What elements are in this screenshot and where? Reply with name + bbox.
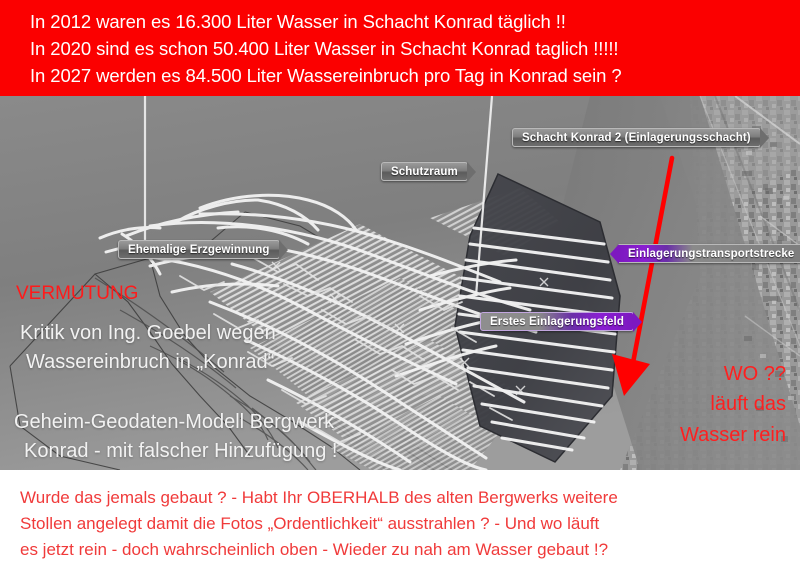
callout-schacht-konrad-2-label: Schacht Konrad 2 (Einlagerungsschacht) [522, 132, 751, 144]
mine-model-image: Schacht Konrad 2 (Einlagerungsschacht) S… [0, 96, 800, 470]
callout-schutzraum[interactable]: Schutzraum [381, 162, 468, 181]
model-note-block: Geheim-Geodaten-Modell Bergwerk Konrad -… [14, 409, 338, 468]
top-banner-line-3: In 2027 werden es 84.500 Liter Wasserein… [30, 62, 800, 89]
top-banner-line-1: In 2012 waren es 16.300 Liter Wasser in … [30, 8, 800, 35]
wo-question-line-3: Wasser rein [680, 422, 786, 448]
bottom-banner-line-1: Wurde das jemals gebaut ? - Habt Ihr OBE… [20, 485, 800, 511]
model-note-line-1: Geheim-Geodaten-Modell Bergwerk [14, 409, 338, 435]
callout-erstes-einlagerungsfeld-label: Erstes Einlagerungsfeld [490, 316, 624, 328]
critique-line-1: Kritik von Ing. Goebel wegen [20, 320, 276, 346]
callout-schacht-konrad-2[interactable]: Schacht Konrad 2 (Einlagerungsschacht) [512, 128, 761, 147]
callout-erstes-einlagerungsfeld[interactable]: Erstes Einlagerungsfeld [480, 312, 634, 331]
model-note-line-2: Konrad - mit falscher Hinzufügung ! [14, 438, 338, 464]
poster-root: In 2012 waren es 16.300 Liter Wasser in … [0, 0, 800, 585]
top-banner-line-2: In 2020 sind es schon 50.400 Liter Wasse… [30, 35, 800, 62]
callout-ehemalige-erzgewinnung[interactable]: Ehemalige Erzgewinnung [118, 240, 280, 259]
bottom-banner-line-2: Stollen angelegt damit die Fotos „Ordent… [20, 511, 800, 537]
bottom-white-banner: Wurde das jemals gebaut ? - Habt Ihr OBE… [0, 470, 800, 585]
critique-text-block: Kritik von Ing. Goebel wegen Wassereinbr… [20, 320, 276, 379]
wo-question-block: WO ?? läuft das Wasser rein [680, 361, 786, 452]
critique-line-2: Wassereinbruch in „Konrad“ [20, 349, 276, 375]
callout-einlagerungstransportstrecke-label: Einlagerungstransportstrecke [628, 248, 794, 260]
callout-ehemalige-erzgewinnung-label: Ehemalige Erzgewinnung [128, 244, 270, 256]
bottom-banner-line-3: es jetzt rein - doch wahrscheinlich oben… [20, 537, 800, 563]
callout-einlagerungstransportstrecke[interactable]: Einlagerungstransportstrecke [618, 244, 800, 263]
wo-question-line-1: WO ?? [680, 361, 786, 387]
top-red-banner: In 2012 waren es 16.300 Liter Wasser in … [0, 0, 800, 96]
wo-question-line-2: läuft das [680, 391, 786, 417]
callout-schutzraum-label: Schutzraum [391, 166, 458, 178]
vermutung-heading: VERMUTUNG [16, 281, 138, 306]
